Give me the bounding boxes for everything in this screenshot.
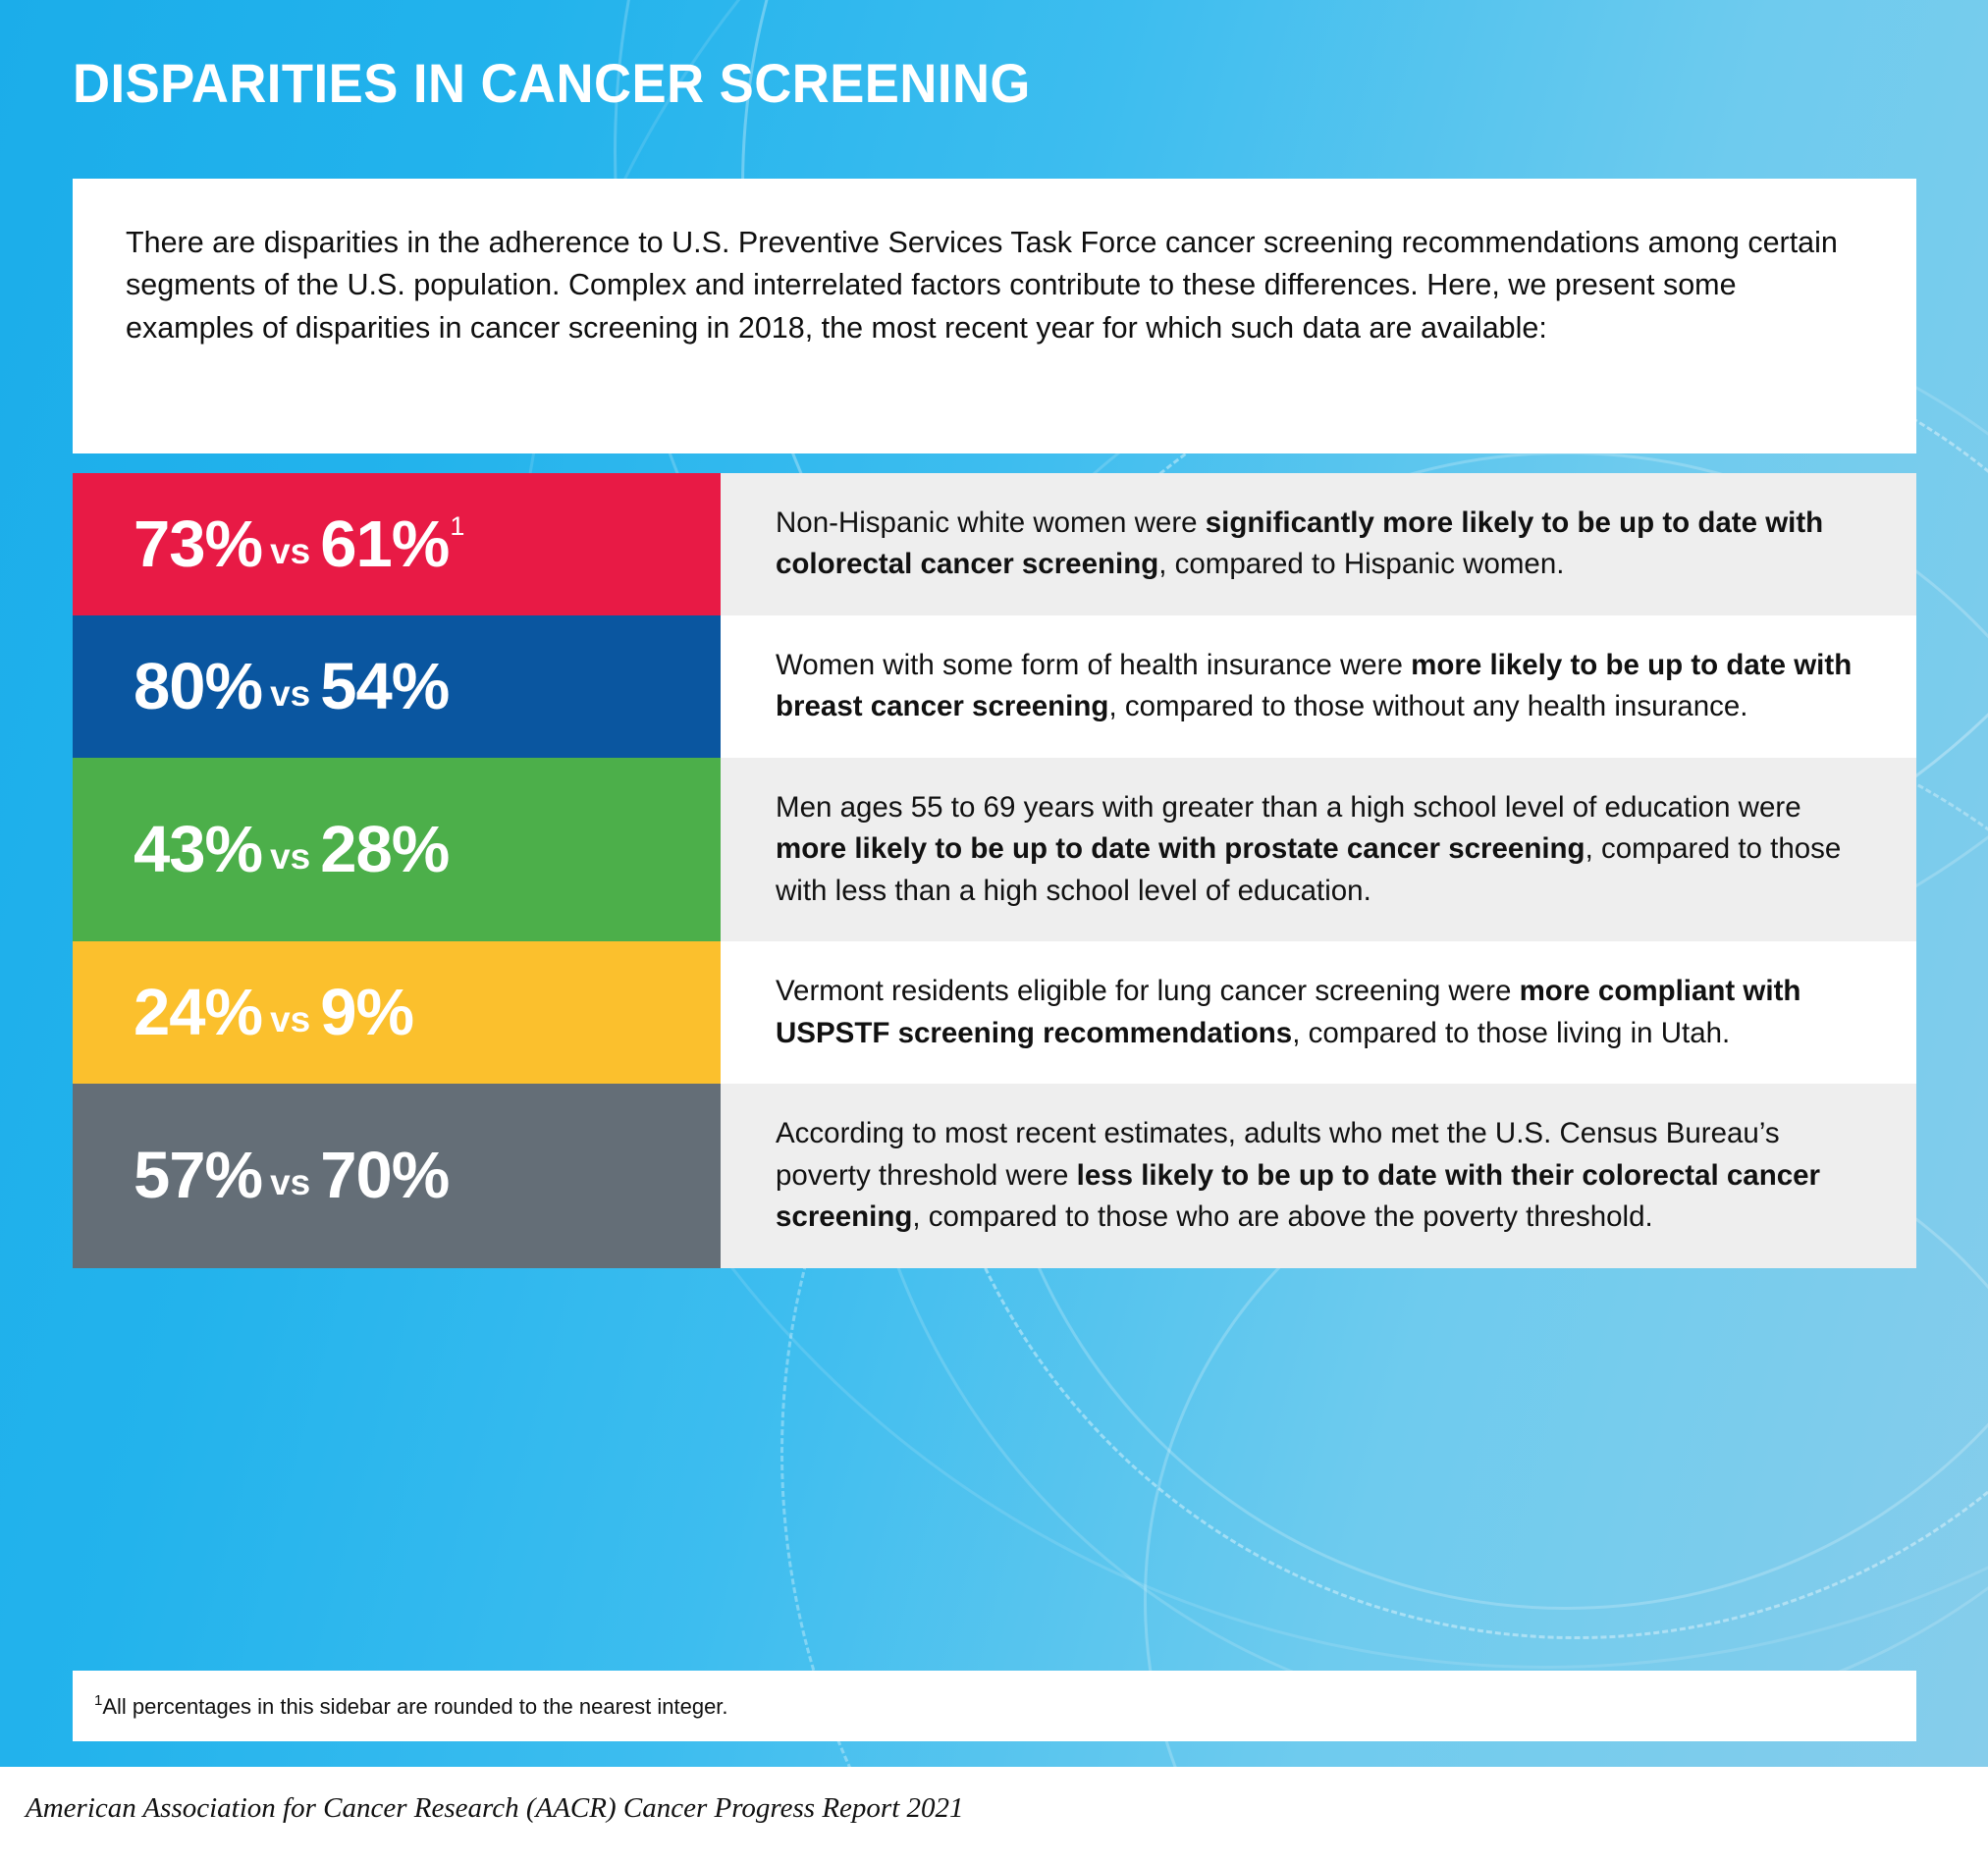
stat-description-text: Vermont residents eligible for lung canc… — [776, 971, 1859, 1054]
page-title: DISPARITIES IN CANCER SCREENING — [73, 55, 1549, 113]
stat-value-a: 24% — [134, 976, 262, 1049]
intro-card: There are disparities in the adherence t… — [73, 179, 1916, 453]
stat-vs-label: vs — [262, 673, 320, 714]
stat-comparison: 24%vs9% — [134, 980, 413, 1045]
stat-comparison: 80%vs54% — [134, 654, 449, 719]
stat-value-a: 43% — [134, 813, 262, 886]
source-attribution: American Association for Cancer Research… — [26, 1792, 964, 1825]
stat-value-a: 73% — [134, 507, 262, 581]
description-prefix: Men ages 55 to 69 years with greater tha… — [776, 791, 1801, 824]
stat-description-text: Non-Hispanic white women were significan… — [776, 503, 1859, 586]
stat-row: 80%vs54%Women with some form of health i… — [73, 615, 1916, 758]
description-highlight: more likely to be up to date with prosta… — [776, 832, 1585, 865]
description-suffix: , compared to those who are above the po… — [912, 1200, 1652, 1233]
stat-vs-label: vs — [262, 1162, 320, 1202]
stat-description-block: Women with some form of health insurance… — [721, 615, 1916, 758]
stat-value-b: 28% — [320, 813, 449, 886]
description-suffix: , compared to those without any health i… — [1108, 690, 1747, 722]
stat-description-block: Non-Hispanic white women were significan… — [721, 473, 1916, 615]
stat-footnote-marker: 1 — [450, 511, 463, 541]
stat-description-text: Women with some form of health insurance… — [776, 645, 1859, 728]
stat-description-block: Men ages 55 to 69 years with greater tha… — [721, 758, 1916, 941]
intro-paragraph: There are disparities in the adherence t… — [126, 222, 1867, 349]
stat-value-b: 61% — [320, 507, 449, 581]
stat-value-b: 9% — [320, 976, 413, 1049]
stat-value-b: 70% — [320, 1139, 449, 1212]
stat-comparison: 73%vs61%1 — [134, 511, 463, 577]
description-prefix: Non-Hispanic white women were — [776, 506, 1206, 539]
stat-comparison: 43%vs28% — [134, 817, 449, 882]
infographic-root: DISPARITIES IN CANCER SCREENING There ar… — [0, 0, 1988, 1864]
stat-value-block: 24%vs9% — [73, 941, 721, 1084]
stat-vs-label: vs — [262, 836, 320, 877]
stat-vs-label: vs — [262, 531, 320, 571]
statistics-list: 73%vs61%1Non-Hispanic white women were s… — [73, 473, 1916, 1268]
stat-value-block: 57%vs70% — [73, 1084, 721, 1267]
stat-comparison: 57%vs70% — [134, 1143, 449, 1208]
footnote-card: 1All percentages in this sidebar are rou… — [73, 1671, 1916, 1741]
stat-value-a: 57% — [134, 1139, 262, 1212]
stat-vs-label: vs — [262, 999, 320, 1039]
footnote-text: 1All percentages in this sidebar are rou… — [94, 1692, 728, 1720]
stat-row: 73%vs61%1Non-Hispanic white women were s… — [73, 473, 1916, 615]
stat-row: 43%vs28%Men ages 55 to 69 years with gre… — [73, 758, 1916, 941]
stat-value-block: 80%vs54% — [73, 615, 721, 758]
description-suffix: , compared to Hispanic women. — [1158, 548, 1564, 580]
stat-value-a: 80% — [134, 650, 262, 723]
stat-value-block: 43%vs28% — [73, 758, 721, 941]
footnote-body: All percentages in this sidebar are roun… — [102, 1694, 727, 1719]
description-prefix: Women with some form of health insurance… — [776, 649, 1411, 681]
stat-description-text: According to most recent estimates, adul… — [776, 1113, 1859, 1238]
stat-row: 57%vs70%According to most recent estimat… — [73, 1084, 1916, 1267]
stat-row: 24%vs9%Vermont residents eligible for lu… — [73, 941, 1916, 1084]
stat-value-block: 73%vs61%1 — [73, 473, 721, 615]
stat-description-block: Vermont residents eligible for lung canc… — [721, 941, 1916, 1084]
stat-value-b: 54% — [320, 650, 449, 723]
stat-description-text: Men ages 55 to 69 years with greater tha… — [776, 787, 1859, 912]
description-prefix: Vermont residents eligible for lung canc… — [776, 975, 1520, 1007]
description-suffix: , compared to those living in Utah. — [1292, 1017, 1730, 1049]
stat-description-block: According to most recent estimates, adul… — [721, 1084, 1916, 1267]
